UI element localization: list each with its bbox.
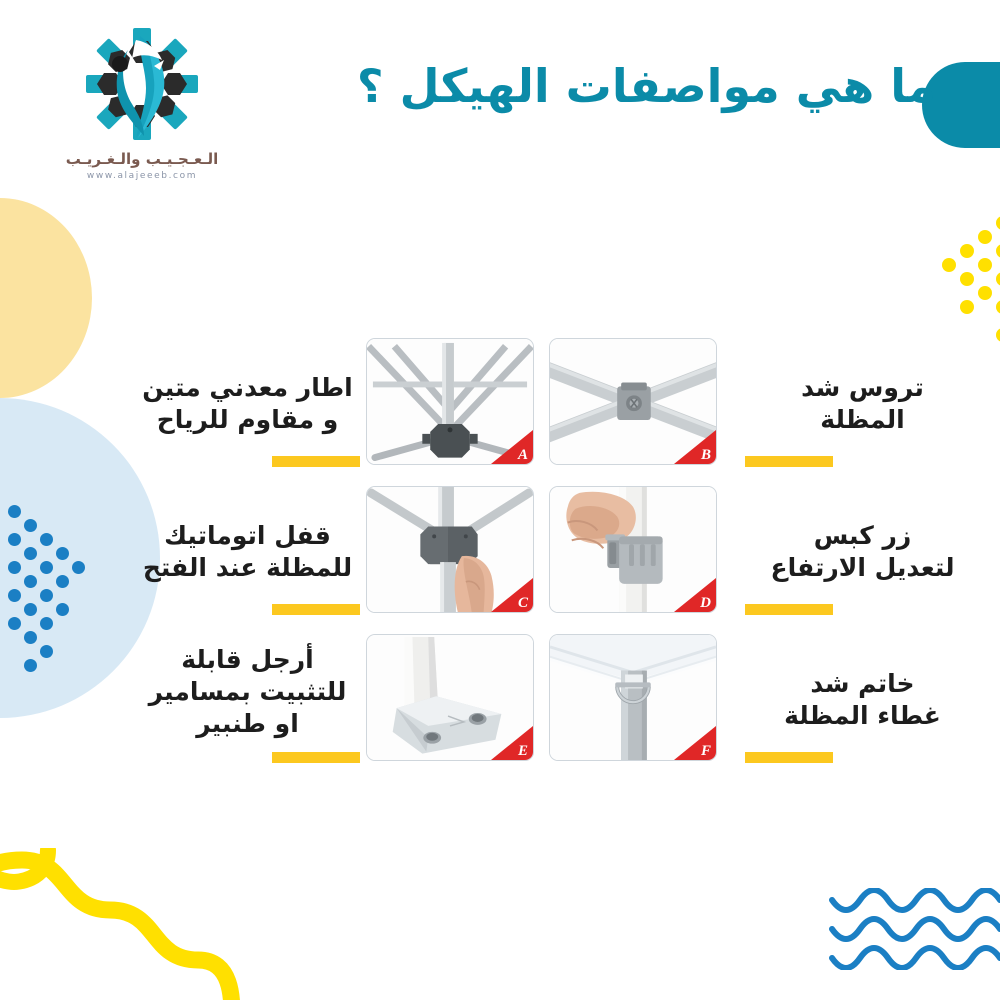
feature-label-left: قفل اتوماتيك للمظلة عند الفتح xyxy=(130,520,365,584)
card-badge: A xyxy=(491,430,533,464)
feature-card[interactable]: C xyxy=(366,486,534,613)
brand-logo: الـعـجـيـب والـغـريـب www.alajeeeb.com xyxy=(58,24,226,181)
page-header: الـعـجـيـب والـغـريـب www.alajeeeb.com م… xyxy=(0,0,1000,200)
infographic-page: الـعـجـيـب والـغـريـب www.alajeeeb.com م… xyxy=(0,0,1000,1000)
feature-card[interactable]: D xyxy=(549,486,717,613)
page-title: ما هي مواصفات الهيكل ؟ xyxy=(216,58,936,116)
brand-wordmark: الـعـجـيـب والـغـريـب xyxy=(58,150,226,168)
card-badge: C xyxy=(491,578,533,612)
label-underline xyxy=(745,604,833,615)
yellow-squiggle-shape xyxy=(0,848,270,1000)
yellow-dot-grid-shape xyxy=(940,216,1000,336)
blue-wave-lines-shape xyxy=(828,888,1000,970)
feature-card[interactable]: F xyxy=(549,634,717,761)
feature-label-right: خاتم شد غطاء المظلة xyxy=(745,668,980,732)
feature-label-left: اطار معدني متين و مقاوم للرياح xyxy=(130,372,365,436)
feature-card[interactable]: A xyxy=(366,338,534,465)
card-badge: D xyxy=(674,578,716,612)
label-underline xyxy=(272,752,360,763)
card-badge: B xyxy=(674,430,716,464)
card-badge: E xyxy=(491,726,533,760)
feature-row: أرجل قابلة للتثبيت بمسامير او طنبير xyxy=(0,634,1000,782)
brand-url: www.alajeeeb.com xyxy=(58,171,226,181)
alajeeb-phoenix-logo-icon xyxy=(76,24,208,148)
feature-label-right: تروس شد المظلة xyxy=(745,372,980,436)
feature-card[interactable]: B xyxy=(549,338,717,465)
feature-card[interactable]: E xyxy=(366,634,534,761)
features-grid: اطار معدني متين و مقاوم للرياح xyxy=(0,338,1000,782)
feature-label-left: أرجل قابلة للتثبيت بمسامير او طنبير xyxy=(130,644,365,739)
label-underline xyxy=(272,456,360,467)
label-underline xyxy=(272,604,360,615)
label-underline xyxy=(745,752,833,763)
feature-row: قفل اتوماتيك للمظلة عند الفتح xyxy=(0,486,1000,634)
label-underline xyxy=(745,456,833,467)
feature-row: اطار معدني متين و مقاوم للرياح xyxy=(0,338,1000,486)
feature-label-right: زر كبس لتعديل الارتفاع xyxy=(745,520,980,584)
card-badge: F xyxy=(674,726,716,760)
